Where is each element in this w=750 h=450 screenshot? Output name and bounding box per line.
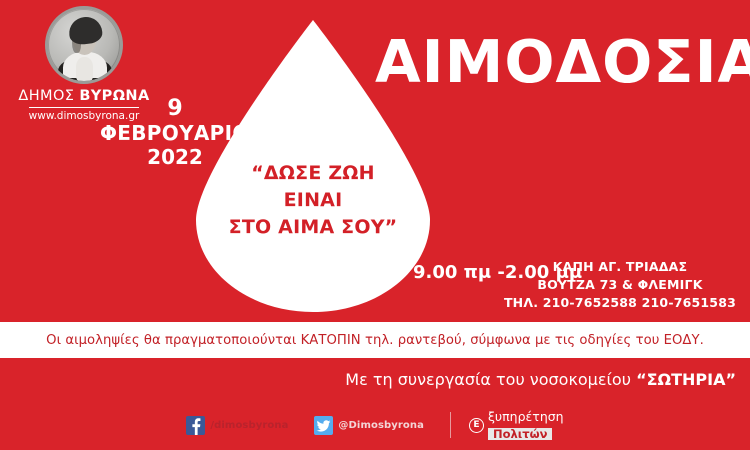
lord-byron-portrait-icon: [45, 6, 123, 84]
eservice-top-word: ξυπηρέτηση: [488, 409, 564, 424]
footer-divider: [450, 412, 451, 438]
notice-banner: Οι αιμοληψίες θα πραγματοποιούνται ΚΑΤΟΠ…: [0, 322, 750, 358]
eservice-citizens-logo[interactable]: E ξυπηρέτηση Πολιτών: [469, 408, 564, 442]
slogan-line-3: ΣΤΟ ΑΙΜΑ ΣΟΥ”: [196, 214, 430, 241]
blood-donation-poster: ΔΗΜΟΣ ΒΥΡΩΝΑ www.dimosbyrona.gr 9 ΦΕΒΡΟΥ…: [0, 0, 750, 450]
partner-hospital-name: “ΣΩΤΗΡΙΑ”: [636, 370, 736, 389]
eservice-bottom-word: Πολιτών: [488, 428, 552, 440]
twitter-icon: [314, 416, 333, 435]
municipality-name-light: ΔΗΜΟΣ: [18, 88, 79, 104]
notice-text: Οι αιμοληψίες θα πραγματοποιούνται ΚΑΤΟΠ…: [46, 333, 704, 348]
facebook-handle: /dimosbyrona: [210, 420, 288, 431]
facebook-icon: [186, 416, 205, 435]
blood-drop-slogan: “ΔΩΣΕ ΖΩΗ ΕΙΝΑΙ ΣΤΟ ΑΙΜΑ ΣΟΥ”: [196, 160, 430, 241]
facebook-link[interactable]: /dimosbyrona: [186, 416, 288, 435]
circled-e-icon: E: [469, 418, 484, 433]
venue-name: ΚΑΠΗ ΑΓ. ΤΡΙΑΔΑΣ: [504, 258, 736, 276]
twitter-link[interactable]: @Dimosbyrona: [314, 416, 424, 435]
venue-street: ΒΟΥΤΖΑ 73 & ΦΛΕΜΙΓΚ: [504, 276, 736, 294]
slogan-line-1: “ΔΩΣΕ ΖΩΗ: [196, 160, 430, 187]
footer-social-bar: /dimosbyrona @Dimosbyrona E ξυπηρέτηση Π…: [0, 408, 750, 442]
venue-address: ΚΑΠΗ ΑΓ. ΤΡΙΑΔΑΣ ΒΟΥΤΖΑ 73 & ΦΛΕΜΙΓΚ ΤΗΛ…: [504, 258, 736, 312]
twitter-handle: @Dimosbyrona: [338, 420, 424, 431]
partner-hospital-line: Με τη συνεργασία του νοσοκομείου “ΣΩΤΗΡΙ…: [345, 370, 736, 389]
slogan-line-2: ΕΙΝΑΙ: [196, 187, 430, 214]
venue-phone: ΤΗΛ. 210-7652588 210-7651583: [504, 294, 736, 312]
page-title: ΑΙΜΟΔΟΣΙΑ: [375, 32, 750, 91]
partner-prefix: Με τη συνεργασία του νοσοκομείου: [345, 370, 636, 389]
